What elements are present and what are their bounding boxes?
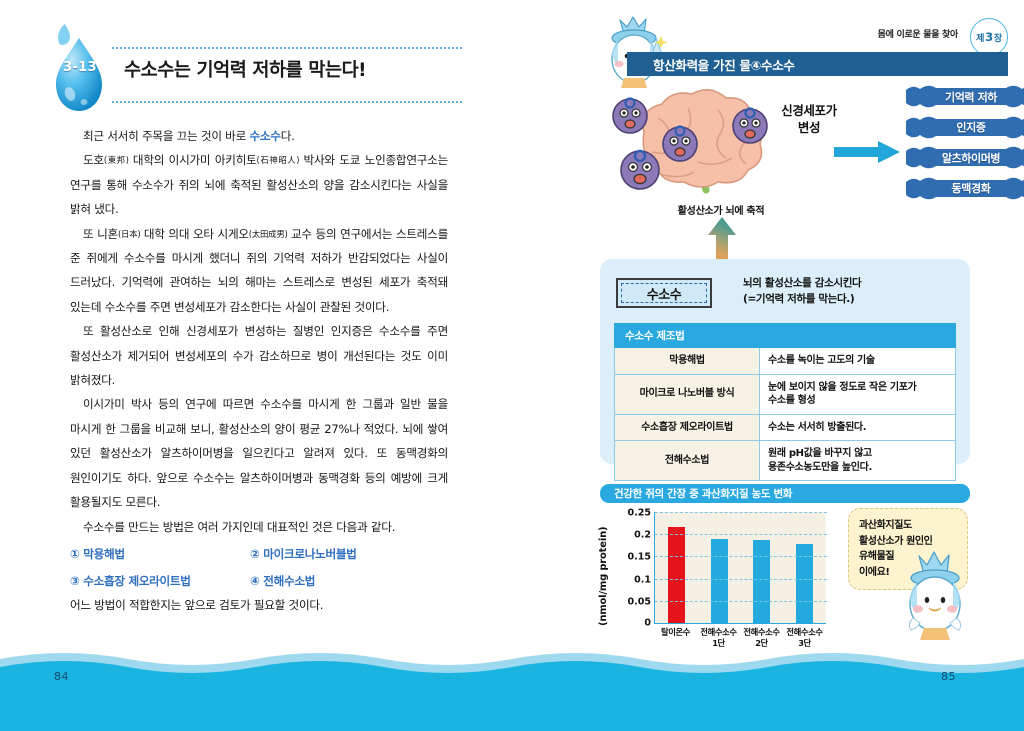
chart-y-axis-label: (nmol/mg protein) [598,514,609,626]
chart-bar [711,539,728,623]
chart-y-tick: 0.05 [628,596,651,607]
panel-note-line1: 뇌의 활성산소를 감소시킨다 [743,276,861,292]
chapter-suffix: 장 [994,31,1002,44]
chart-y-tick: 0.25 [628,508,651,519]
methods-list: ① 막용해법 ② 마이크로나노버블법 ③ 수소흡장 제오라이트법 ④ 전해수소법 [70,542,448,593]
outcome-label: 인지증 [956,119,985,135]
method-name: 막용해법 [615,348,760,375]
chart-title: 건강한 쥐의 간장 중 과산화지질 농도 변화 [600,484,970,503]
method-item: ④ 전해수소법 [250,569,448,593]
method-desc: 수소를 녹이는 고도의 기술 [760,348,956,375]
brain-caption: 활성산소가 뇌에 축적 [636,202,806,217]
water-mascot-bottom-icon [900,548,978,648]
method-name: 수소흡장 제오라이트법 [615,414,760,441]
chart-gridline: 0.05 [655,601,827,602]
wave-footer [0,643,1024,731]
outcome-banner: 동맥경화 [906,176,1024,201]
chapter-number: 3 [984,30,994,44]
method-name: 전해수소법 [615,441,760,481]
production-methods-table: 수소수 제조법 막용해법 수소를 녹이는 고도의 기술 마이크로 나노버블 방식… [614,323,956,481]
outcome-label: 동맥경화 [952,180,991,196]
transition-label: 신경세포가변성 [766,102,852,136]
chart-gridline: 0.25 [655,512,827,513]
chart-gridline: 0.1 [655,579,827,580]
brain-outcomes-diagram: 활성산소가 뇌에 축적 신경세포가변성 기억력 저하 인지증 알츠하이머병 [598,82,1018,222]
wave-graphic [0,643,1024,731]
chart-plot-area: 00.050.10.150.20.25 [654,512,826,624]
outcome-banner: 인지증 [906,115,1024,140]
section-title-bar: 항산화력을 가진 물④수소수 [627,52,1008,76]
chart-bar-cell [741,512,784,623]
table-row: 막용해법 수소를 녹이는 고도의 기술 [615,348,956,375]
panel-note-line2: (=기억력 저하를 막는다.) [743,292,861,308]
paragraph: 또 활성산소로 인해 신경세포가 변성하는 질병인 인지증은 수소수를 주면 활… [70,319,448,392]
chapter-prefix: 제 [976,31,984,44]
paragraph: 도호(東邦) 대학의 이시가미 아키히토(石神昭人) 박사와 도쿄 노인종합연구… [70,148,448,221]
chart-bar [753,540,770,623]
water-mascot-icon [600,12,676,90]
chart-y-tick: 0.2 [634,530,651,541]
title-rule-bottom [112,101,462,103]
table-row: 마이크로 나노버블 방식 눈에 보이지 않을 정도로 작은 기포가수소를 형성 [615,374,956,414]
page-number-right: 85 [941,670,956,683]
chart-gridline: 0.15 [655,556,827,557]
hydrogen-water-box: 수소수 [616,278,712,308]
closing-paragraph: 어느 방법이 적합한지는 앞으로 검토가 필요할 것이다. [70,593,448,617]
method-desc: 원래 pH값을 바꾸지 않고용존수소농도만을 높인다. [760,441,956,481]
paragraph: 또 니혼(日本) 대학 의대 오타 시게오(太田成男) 교수 등의 연구에서는 … [70,222,448,320]
chart-bar [668,527,685,623]
section-number-badge: 3-13 [58,57,102,77]
method-desc: 눈에 보이지 않을 정도로 작은 기포가수소를 형성 [760,374,956,414]
outcome-banner-list: 기억력 저하 인지증 알츠하이머병 동맥경화 [906,84,1024,206]
paragraph: 이시가미 박사 등의 연구에 따르면 수소수를 마시게 한 그룹과 일반 물을 … [70,392,448,514]
chart-y-tick: 0.1 [634,574,651,585]
table-header-row: 수소수 제조법 [615,324,956,348]
chart-bar-cell [783,512,826,623]
outcome-label: 알츠하이머병 [942,150,1000,166]
chart-bar-cell [655,512,698,623]
paragraph: 수소수를 만드는 방법은 여러 가지인데 대표적인 것은 다음과 같다. [70,515,448,539]
right-arrow-icon [834,141,900,163]
method-name: 마이크로 나노버블 방식 [615,374,760,414]
method-item: ① 막용해법 [70,542,240,566]
table-row: 전해수소법 원래 pH값을 바꾸지 않고용존수소농도만을 높인다. [615,441,956,481]
page-title: 수소수는 기억력 저하를 막는다! [124,56,366,82]
panel-note: 뇌의 활성산소를 감소시킨다 (=기억력 저하를 막는다.) [743,276,861,307]
chart-y-tick: 0.15 [628,552,651,563]
outcome-banner: 알츠하이머병 [906,145,1024,170]
table-row: 수소흡장 제오라이트법 수소는 서서히 방출된다. [615,414,956,441]
article-body: 최근 서서히 주목을 끄는 것이 바로 수소수다. 도호(東邦) 대학의 이시가… [70,124,448,617]
hydrogen-water-panel: 수소수 뇌의 활성산소를 감소시킨다 (=기억력 저하를 막는다.) 수소수 제… [600,259,970,464]
hydrogen-water-label: 수소수 [647,284,681,303]
book-spread: 3-13 수소수는 기억력 저하를 막는다! 최근 서서히 주목을 끄는 것이 … [0,0,1024,731]
paragraph: 최근 서서히 주목을 끄는 것이 바로 수소수다. [70,124,448,148]
chart-y-tick: 0 [644,618,651,629]
chapter-badge: 제3장 [970,18,1008,56]
method-item: ③ 수소흡장 제오라이트법 [70,569,240,593]
outcome-banner: 기억력 저하 [906,84,1024,109]
table-header: 수소수 제조법 [615,324,956,348]
running-head: 몸에 이로운 물을 찾아 [878,27,958,40]
method-desc: 수소는 서서히 방출된다. [760,414,956,441]
chart-bar-cell [698,512,741,623]
right-page: 몸에 이로운 물을 찾아 제3장 항산화력을 가진 물④수소수 [512,0,1024,645]
chart-gridline: 0.2 [655,534,827,535]
peroxide-bar-chart: (nmol/mg protein) 00.050.10.150.20.25 탈이… [600,506,830,651]
page-number-left: 84 [54,670,69,683]
chart-bars [655,512,826,623]
title-rule-top [112,47,462,49]
method-item: ② 마이크로나노버블법 [250,542,448,566]
left-page: 3-13 수소수는 기억력 저하를 막는다! 최근 서서히 주목을 끄는 것이 … [0,0,512,645]
outcome-label: 기억력 저하 [945,89,997,105]
